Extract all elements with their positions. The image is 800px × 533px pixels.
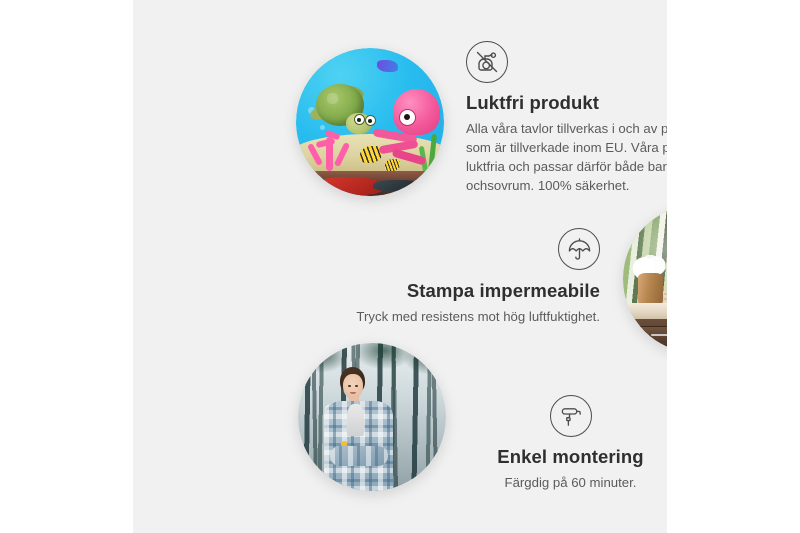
feature-title: Enkel montering bbox=[463, 446, 667, 468]
feature-waterproof: Stampa impermeabile Tryck med resistens … bbox=[353, 228, 600, 326]
feature-title: Stampa impermeabile bbox=[353, 280, 600, 302]
photo-inner bbox=[298, 343, 446, 491]
octopus-icon bbox=[376, 89, 441, 163]
bathroom-leaf-wallpaper-photo bbox=[623, 205, 667, 353]
backsplash-tiles bbox=[664, 291, 667, 303]
paint-roller-icon bbox=[550, 395, 592, 437]
purple-fish-icon bbox=[377, 60, 398, 72]
countertop bbox=[623, 303, 667, 321]
feature-description: Färgdig på 60 minuter. bbox=[463, 473, 667, 492]
turtle-icon bbox=[312, 84, 380, 143]
no-odor-spray-bottle-icon bbox=[466, 41, 508, 83]
feature-description: Tryck med resistens mot hög luftfuktighe… bbox=[353, 307, 600, 326]
feature-description: Alla våra tavlor tillverkas i och av pro… bbox=[466, 119, 667, 195]
feature-title: Luktfri produkt bbox=[466, 92, 667, 114]
photo-inner bbox=[623, 205, 667, 353]
woman-figure bbox=[317, 367, 400, 491]
underwater-kids-mural-photo bbox=[296, 48, 444, 196]
ocean-floor-strip bbox=[296, 171, 444, 196]
panel-background: Luktfri produkt Alla våra tavlor tillver… bbox=[133, 0, 667, 533]
promo-banner: Luktfri produkt Alla våra tavlor tillver… bbox=[0, 0, 800, 533]
wooden-vanity bbox=[629, 319, 667, 353]
feature-odorless: Luktfri produkt Alla våra tavlor tillver… bbox=[466, 41, 667, 195]
umbrella-icon bbox=[558, 228, 600, 270]
feature-easy-install: Enkel montering Färgdig på 60 minuter. bbox=[463, 395, 667, 492]
photo-inner bbox=[296, 48, 444, 196]
woman-with-paint-roller-forest-photo bbox=[298, 343, 446, 491]
